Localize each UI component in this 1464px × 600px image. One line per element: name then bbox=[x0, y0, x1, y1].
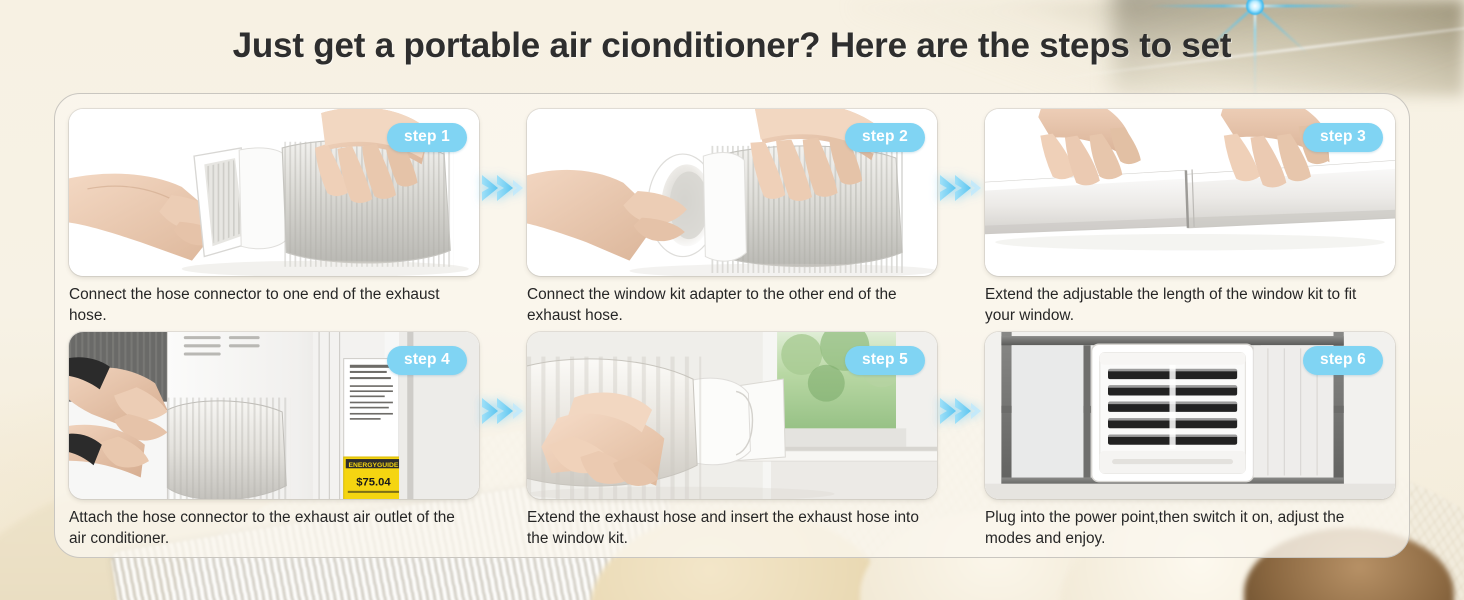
arrow-cell-3 bbox=[479, 332, 527, 549]
step-caption-1: Connect the hose connector to one end of… bbox=[69, 285, 464, 326]
arrow-cell-2 bbox=[937, 109, 985, 326]
step-card-1: step 1 Connect the hose connector to one… bbox=[69, 109, 479, 326]
step-caption-4: Attach the hose connector to the exhaust… bbox=[69, 508, 464, 549]
arrow-step1-to-step2-icon bbox=[480, 171, 526, 205]
arrow-step4-to-step5-icon bbox=[480, 394, 526, 428]
step-caption-5: Extend the exhaust hose and insert the e… bbox=[527, 508, 922, 549]
arrow-cell-4 bbox=[937, 332, 985, 549]
step-badge-5: step 5 bbox=[845, 346, 925, 375]
step-caption-3: Extend the adjustable the length of the … bbox=[985, 285, 1380, 326]
step-card-3: step 3 Extend the adjustable the length … bbox=[985, 109, 1395, 326]
step-badge-4: step 4 bbox=[387, 346, 467, 375]
step-card-2: step 2 Connect the window kit adapter to… bbox=[527, 109, 937, 326]
step-badge-1: step 1 bbox=[387, 123, 467, 152]
arrow-cell-1 bbox=[479, 109, 527, 326]
steps-panel: step 1 Connect the hose connector to one… bbox=[54, 93, 1410, 558]
step-caption-2: Connect the window kit adapter to the ot… bbox=[527, 285, 922, 326]
step-caption-6: Plug into the power point,then switch it… bbox=[985, 508, 1380, 549]
step-card-6: step 6 Plug into the power point,then sw… bbox=[985, 332, 1395, 549]
arrow-step2-to-step3-icon bbox=[938, 171, 984, 205]
step-card-5: step 5 Extend the exhaust hose and inser… bbox=[527, 332, 937, 549]
svg-text:ENERGYGUIDE: ENERGYGUIDE bbox=[348, 462, 398, 469]
step-card-4: ENERGYGUIDE $75.04 bbox=[69, 332, 479, 549]
arrow-step5-to-step6-icon bbox=[938, 394, 984, 428]
step-badge-3: step 3 bbox=[1303, 123, 1383, 152]
page-title: Just get a portable air cionditioner? He… bbox=[0, 26, 1464, 66]
steps-grid: step 1 Connect the hose connector to one… bbox=[55, 94, 1409, 557]
svg-text:$75.04: $75.04 bbox=[356, 477, 391, 489]
infographic-root: Just get a portable air cionditioner? He… bbox=[0, 0, 1464, 600]
step-badge-6: step 6 bbox=[1303, 346, 1383, 375]
step-badge-2: step 2 bbox=[845, 123, 925, 152]
